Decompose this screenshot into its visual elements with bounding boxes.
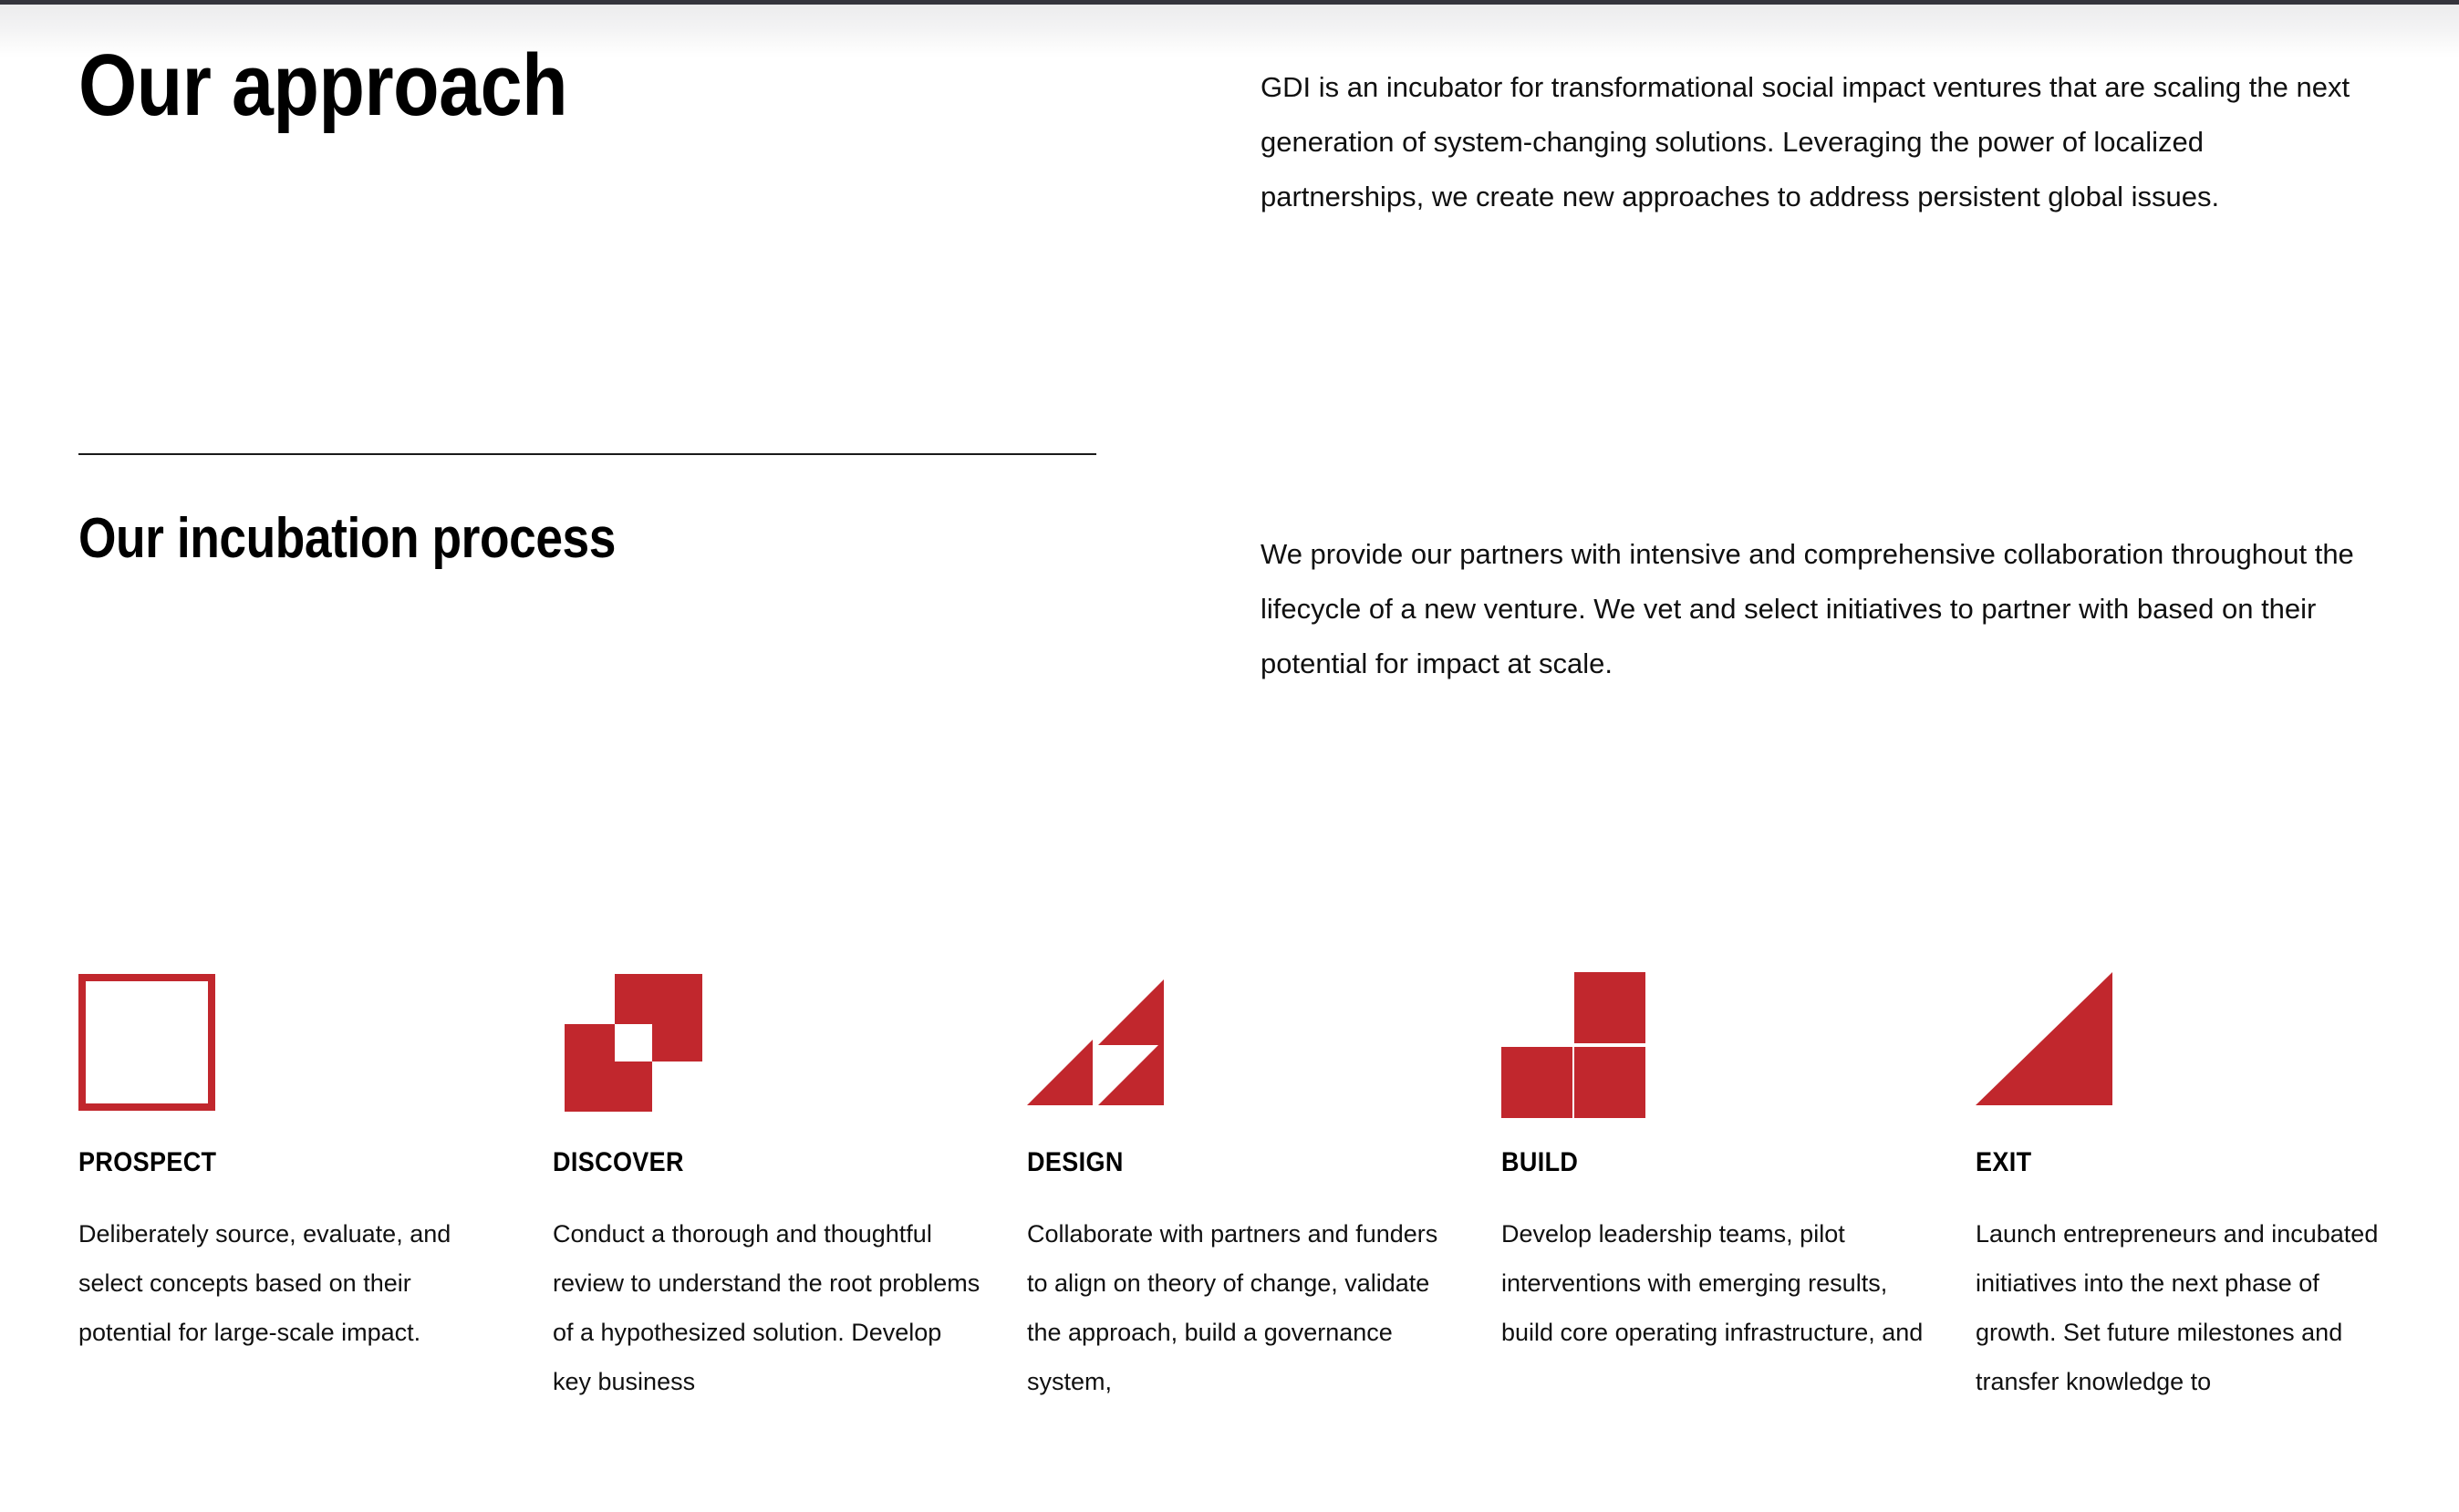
approach-heading: Our approach xyxy=(78,42,567,129)
step-exit: EXIT Launch entrepreneurs and incubated … xyxy=(1976,968,2450,1406)
step-prospect: PROSPECT Deliberately source, evaluate, … xyxy=(78,968,553,1406)
step-design-text: Collaborate with partners and funders to… xyxy=(1027,1209,1456,1406)
approach-paragraph: GDI is an incubator for transformational… xyxy=(1261,60,2364,224)
offset-squares-icon xyxy=(553,968,690,1105)
step-prospect-label: PROSPECT xyxy=(78,1149,464,1176)
step-discover: DISCOVER Conduct a thorough and thoughtf… xyxy=(553,968,1027,1406)
incubation-steps-grid: PROSPECT Deliberately source, evaluate, … xyxy=(78,968,2413,1406)
stacked-triangles-shape xyxy=(1027,968,1164,1105)
step-design: DESIGN Collaborate with partners and fun… xyxy=(1027,968,1501,1406)
step-prospect-text: Deliberately source, evaluate, and selec… xyxy=(78,1209,507,1357)
three-squares-bottom-right xyxy=(1574,1047,1645,1118)
section-divider xyxy=(78,453,1096,455)
step-discover-text: Conduct a thorough and thoughtful review… xyxy=(553,1209,981,1406)
three-squares-icon xyxy=(1501,968,1638,1105)
three-squares-top-right xyxy=(1574,972,1645,1043)
process-paragraph: We provide our partners with intensive a… xyxy=(1261,527,2392,691)
step-build: BUILD Develop leadership teams, pilot in… xyxy=(1501,968,1976,1406)
step-discover-label: DISCOVER xyxy=(553,1149,939,1176)
stacked-triangles-icon xyxy=(1027,968,1164,1105)
square-outline-shape xyxy=(78,974,215,1111)
step-exit-label: EXIT xyxy=(1976,1149,2361,1176)
page-root: Our approach GDI is an incubator for tra… xyxy=(0,0,2459,1512)
process-heading: Our incubation process xyxy=(78,511,616,567)
step-build-text: Develop leadership teams, pilot interven… xyxy=(1501,1209,1930,1357)
step-build-label: BUILD xyxy=(1501,1149,1887,1176)
large-triangle-icon xyxy=(1976,968,2112,1105)
offset-square-notch xyxy=(615,1024,652,1062)
square-outline-icon xyxy=(78,968,215,1105)
large-triangle-shape xyxy=(1976,968,2112,1105)
step-design-label: DESIGN xyxy=(1027,1149,1413,1176)
three-squares-bottom-left xyxy=(1501,1047,1572,1118)
step-exit-text: Launch entrepreneurs and incubated initi… xyxy=(1976,1209,2404,1406)
